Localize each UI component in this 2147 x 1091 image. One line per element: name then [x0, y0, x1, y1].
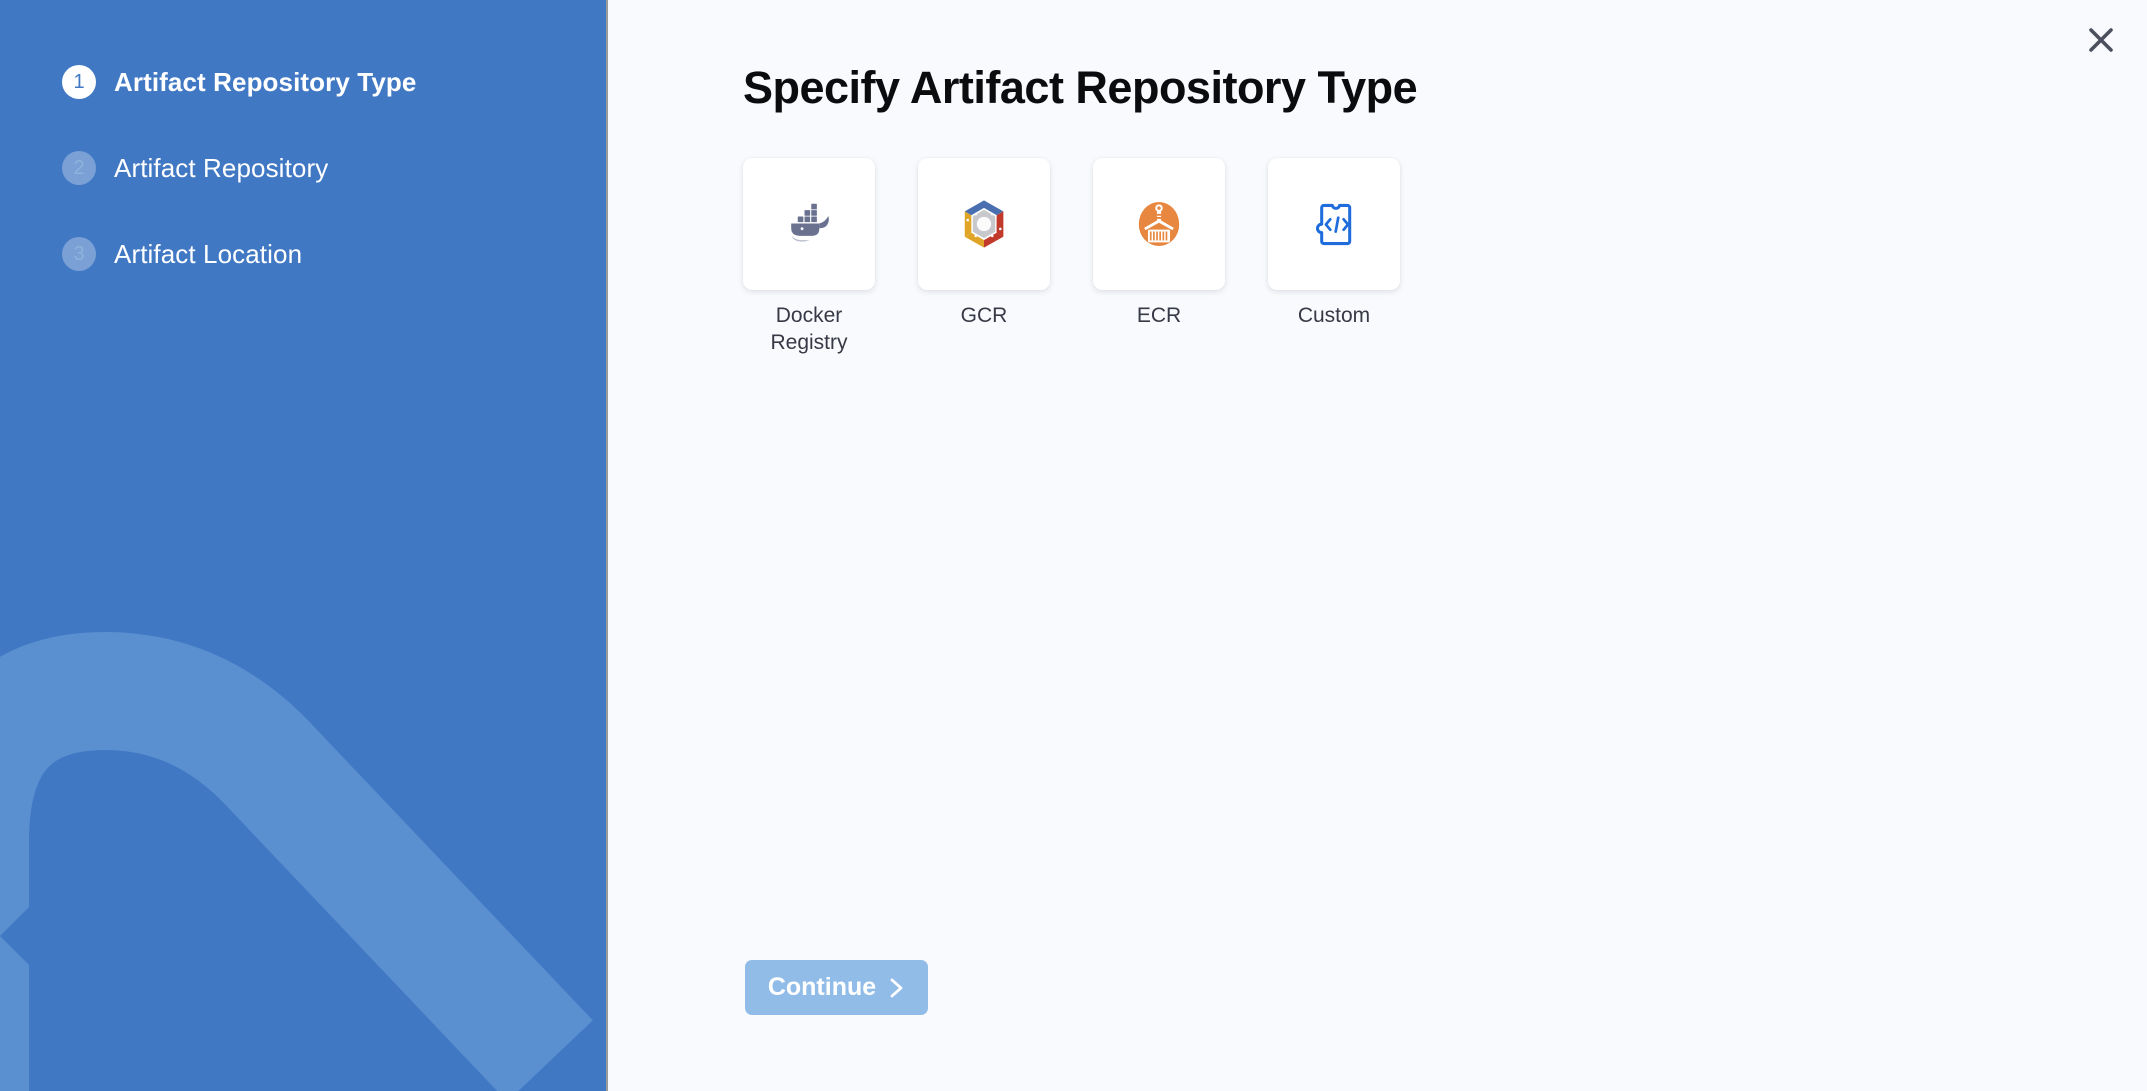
- repository-type-option-custom[interactable]: Custom: [1268, 158, 1400, 357]
- close-button[interactable]: [2075, 14, 2127, 66]
- page-title: Specify Artifact Repository Type: [743, 62, 1417, 114]
- repository-type-label: Custom: [1268, 303, 1400, 330]
- wizard-step-list: 1 Artifact Repository Type 2 Artifact Re…: [0, 0, 606, 278]
- step-number-badge: 1: [62, 65, 96, 99]
- repository-type-option-ecr[interactable]: ECR: [1093, 158, 1225, 357]
- repository-type-label: Docker Registry: [743, 303, 875, 357]
- google-container-registry-icon: [956, 196, 1012, 252]
- repository-type-card[interactable]: [1093, 158, 1225, 290]
- sidebar-step-artifact-repository[interactable]: 2 Artifact Repository: [62, 144, 606, 192]
- repository-type-card[interactable]: [743, 158, 875, 290]
- wizard-sidebar: 1 Artifact Repository Type 2 Artifact Re…: [0, 0, 608, 1091]
- docker-whale-icon: [779, 194, 839, 254]
- step-number-badge: 2: [62, 151, 96, 185]
- close-icon: [2086, 25, 2116, 55]
- continue-button[interactable]: Continue: [745, 960, 928, 1015]
- repository-type-card[interactable]: [918, 158, 1050, 290]
- repository-type-label: GCR: [918, 303, 1050, 330]
- repository-type-option-gcr[interactable]: GCR: [918, 158, 1050, 357]
- wizard-main-panel: Specify Artifact Repository Type: [608, 0, 2147, 1091]
- repository-type-option-docker-registry[interactable]: Docker Registry: [743, 158, 875, 357]
- artifact-repository-type-grid: Docker Registry: [743, 158, 1400, 357]
- artifact-repository-wizard-modal: 1 Artifact Repository Type 2 Artifact Re…: [0, 0, 2147, 1091]
- step-number-badge: 3: [62, 237, 96, 271]
- harness-watermark-logo: [0, 541, 608, 1091]
- sidebar-step-artifact-repository-type[interactable]: 1 Artifact Repository Type: [62, 58, 606, 106]
- continue-button-label: Continue: [768, 973, 876, 1002]
- repository-type-label: ECR: [1093, 303, 1225, 330]
- custom-code-puzzle-icon: [1307, 197, 1361, 251]
- aws-ecr-icon: [1131, 196, 1187, 252]
- step-label: Artifact Repository: [114, 153, 328, 184]
- chevron-right-icon: [889, 976, 905, 1000]
- step-label: Artifact Location: [114, 239, 302, 270]
- sidebar-step-artifact-location[interactable]: 3 Artifact Location: [62, 230, 606, 278]
- repository-type-card[interactable]: [1268, 158, 1400, 290]
- step-label: Artifact Repository Type: [114, 67, 416, 98]
